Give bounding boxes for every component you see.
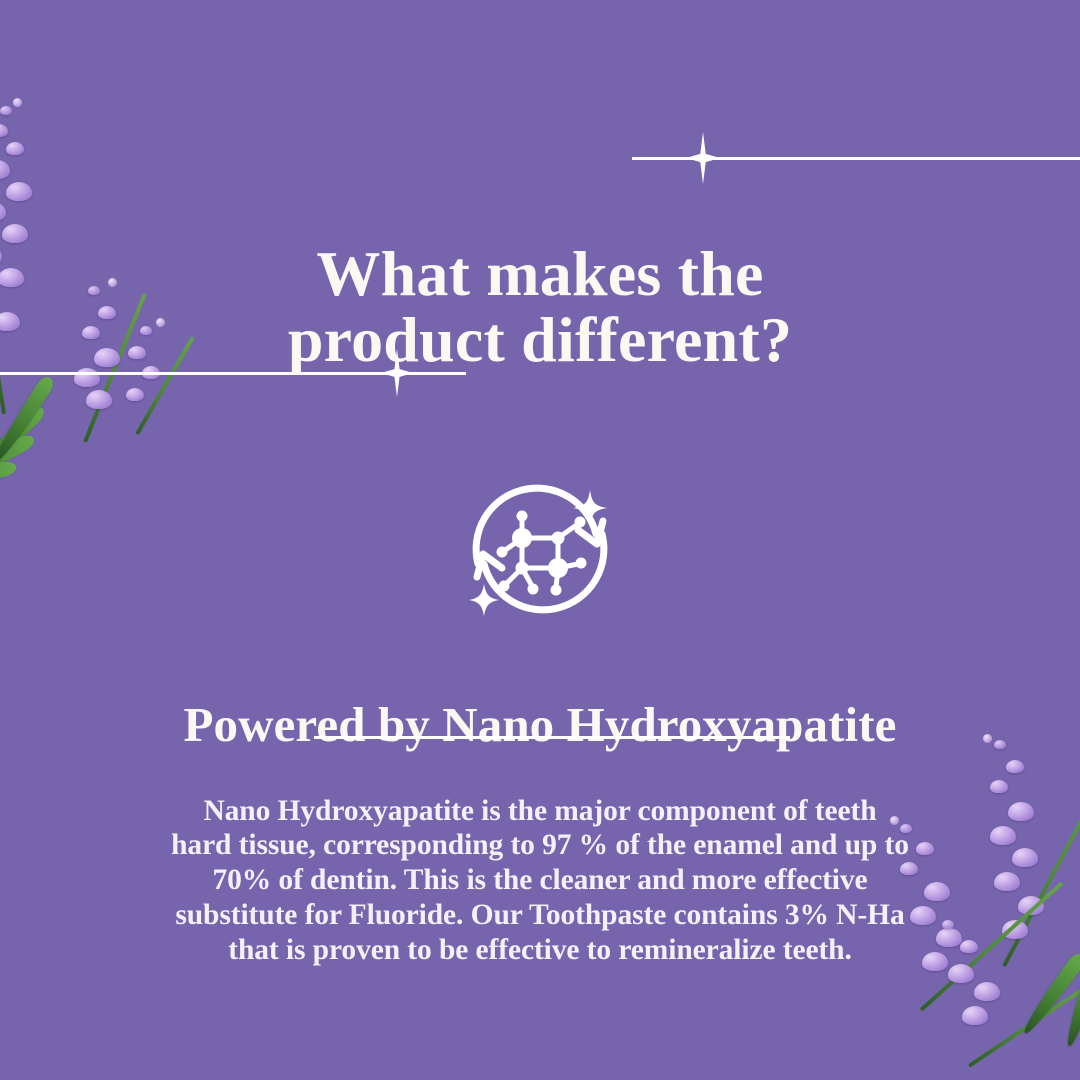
sparkle-icon xyxy=(686,132,720,184)
promo-card: What makes the product different? xyxy=(0,0,1080,1080)
headline-line-1: What makes the xyxy=(316,238,763,309)
molecule-recycle-icon xyxy=(460,472,620,622)
headline-line-2: product different? xyxy=(0,307,1080,374)
subheading: Powered by Nano Hydroxyapatite xyxy=(0,696,1080,753)
page-title: What makes the product different? xyxy=(0,241,1080,374)
divider-under-subheading xyxy=(314,736,790,739)
body-paragraph: Nano Hydroxyapatite is the major compone… xyxy=(170,794,910,968)
